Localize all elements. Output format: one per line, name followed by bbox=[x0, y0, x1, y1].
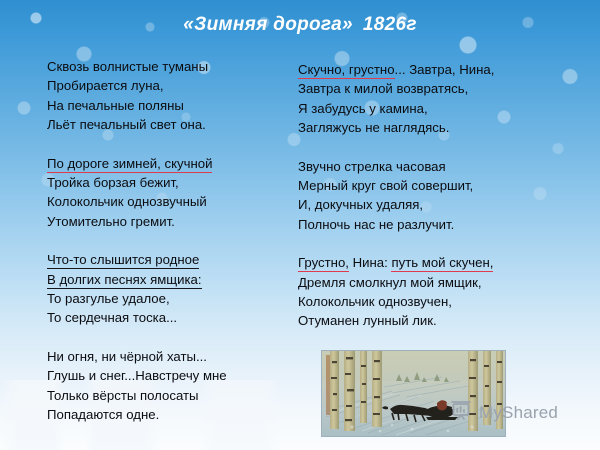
poem-text-segment: Отуманен лунный лик. bbox=[298, 313, 437, 328]
poem-line: Скучно, грустно... Завтра, Нина, bbox=[298, 60, 494, 79]
poem-text-segment: Звучно стрелка часовая bbox=[298, 159, 446, 174]
poem-line: И, докучных удаляя, bbox=[298, 195, 494, 214]
poem-stanza: Скучно, грустно... Завтра, Нина,Завтра к… bbox=[298, 60, 494, 138]
poem-line: Полночь нас не разлучит. bbox=[298, 215, 494, 234]
poem-stanza: Грустно, Нина: путь мой скучен,Дремля см… bbox=[298, 253, 494, 331]
poem-text-segment: Утомительно гремит. bbox=[47, 214, 175, 229]
poem-text-segment: Колокольчик однозвучный bbox=[47, 194, 207, 209]
poem-text-segment: Пробирается луна, bbox=[47, 78, 164, 93]
poem-line: Тройка борзая бежит, bbox=[47, 173, 227, 192]
poem-text-segment: Сквозь волнистые туманы bbox=[47, 59, 208, 74]
poem-line: Сквозь волнистые туманы bbox=[47, 57, 227, 76]
slide-title-main: «Зимняя дорога» bbox=[183, 14, 353, 35]
winter-road-illustration bbox=[321, 350, 506, 437]
poem-text-segment: И, докучных удаляя, bbox=[298, 197, 423, 212]
poem-highlight-segment: Грустно, bbox=[298, 255, 349, 272]
poem-highlight-segment: По дороге зимней, скучной bbox=[47, 156, 212, 173]
poem-line: Только вёрсты полосаты bbox=[47, 386, 227, 405]
poem-stanza: Звучно стрелка часоваяМерный круг свой с… bbox=[298, 157, 494, 235]
slide-title: «Зимняя дорога»1826г bbox=[0, 14, 600, 36]
poem-line: Загляжусь не наглядясь. bbox=[298, 118, 494, 137]
poem-line: Мерный круг свой совершит, bbox=[298, 176, 494, 195]
poem-line: Колокольчик однозвучный bbox=[47, 192, 227, 211]
poem-line: Колокольчик однозвучен, bbox=[298, 292, 494, 311]
poem-stanza: Что-то слышится родноеВ долгих песнях ям… bbox=[47, 250, 227, 328]
poem-line: Что-то слышится родное bbox=[47, 250, 227, 269]
poem-line: Пробирается луна, bbox=[47, 76, 227, 95]
poem-text-segment: Я забудусь у камина, bbox=[298, 101, 428, 116]
poem-highlight-segment: В долгих песнях ямщика: bbox=[47, 272, 202, 289]
poem-stanza: Ни огня, ни чёрной хаты...Глушь и снег..… bbox=[47, 347, 227, 425]
poem-stanza: Сквозь волнистые туманыПробирается луна,… bbox=[47, 57, 227, 135]
poem-left-column: Сквозь волнистые туманыПробирается луна,… bbox=[47, 57, 227, 425]
poem-line: Ни огня, ни чёрной хаты... bbox=[47, 347, 227, 366]
poem-text-segment: Только вёрсты полосаты bbox=[47, 388, 199, 403]
poem-text-segment: На печальные поляны bbox=[47, 98, 184, 113]
poem-text-segment: Мерный круг свой совершит, bbox=[298, 178, 473, 193]
poem-line: Льёт печальный свет она. bbox=[47, 115, 227, 134]
poem-text-segment: Загляжусь не наглядясь. bbox=[298, 120, 449, 135]
poem-text-segment: Дремля смолкнул мой ямщик, bbox=[298, 275, 482, 290]
poem-right-column: Скучно, грустно... Завтра, Нина,Завтра к… bbox=[298, 60, 494, 331]
poem-text-segment: Колокольчик однозвучен, bbox=[298, 294, 452, 309]
poem-text-segment: Льёт печальный свет она. bbox=[47, 117, 206, 132]
poem-text-segment: Завтра к милой возвратясь, bbox=[298, 81, 468, 96]
poem-line: Попадаются одне. bbox=[47, 405, 227, 424]
poem-text-segment: Глушь и снег...Навстречу мне bbox=[47, 368, 227, 383]
poem-text-segment: То сердечная тоска... bbox=[47, 310, 177, 325]
poem-text-segment: Тройка борзая бежит, bbox=[47, 175, 179, 190]
poem-line: Дремля смолкнул мой ямщик, bbox=[298, 273, 494, 292]
poem-line: Грустно, Нина: путь мой скучен, bbox=[298, 253, 494, 272]
poem-text-segment: Нина: bbox=[349, 255, 392, 270]
poem-line: Отуманен лунный лик. bbox=[298, 311, 494, 330]
presentation-slide: «Зимняя дорога»1826г Сквозь волнистые ту… bbox=[0, 0, 600, 450]
poem-line: Звучно стрелка часовая bbox=[298, 157, 494, 176]
poem-text-segment: ... Завтра, Нина, bbox=[395, 62, 495, 77]
poem-highlight-segment: Что-то слышится родное bbox=[47, 252, 199, 269]
poem-line: Глушь и снег...Навстречу мне bbox=[47, 366, 227, 385]
poem-highlight-segment: Скучно, грустно bbox=[298, 62, 395, 79]
poem-stanza: По дороге зимней, скучнойТройка борзая б… bbox=[47, 154, 227, 232]
poem-line: Я забудусь у камина, bbox=[298, 99, 494, 118]
poem-text-segment: Ни огня, ни чёрной хаты... bbox=[47, 349, 207, 364]
poem-line: Утомительно гремит. bbox=[47, 212, 227, 231]
poem-line: То сердечная тоска... bbox=[47, 308, 227, 327]
poem-text-segment: Полночь нас не разлучит. bbox=[298, 217, 454, 232]
poem-line: В долгих песнях ямщика: bbox=[47, 270, 227, 289]
poem-line: На печальные поляны bbox=[47, 96, 227, 115]
poem-text-segment: Попадаются одне. bbox=[47, 407, 159, 422]
poem-line: По дороге зимней, скучной bbox=[47, 154, 227, 173]
slide-title-year: 1826г bbox=[353, 14, 417, 35]
poem-line: Завтра к милой возвратясь, bbox=[298, 79, 494, 98]
poem-line: То разгулье удалое, bbox=[47, 289, 227, 308]
poem-highlight-segment: путь мой скучен, bbox=[391, 255, 493, 272]
poem-text-segment: То разгулье удалое, bbox=[47, 291, 170, 306]
